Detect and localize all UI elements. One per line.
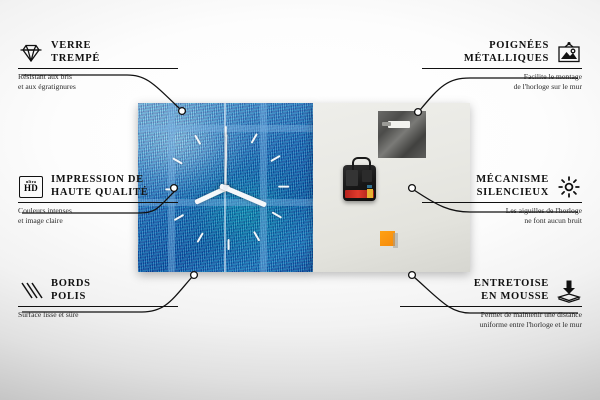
infographic-canvas: VERRE TREMPÉ Résistant aux bris et aux é…	[0, 0, 600, 400]
diamond-icon	[18, 42, 44, 64]
hour-marker	[227, 239, 229, 250]
callout-bords-polis: BORDS POLIS Surface lisse et sûre	[18, 278, 178, 320]
callout-divider	[422, 202, 582, 203]
callout-divider	[18, 306, 178, 307]
callout-title-line1: MÉCANISME	[476, 174, 549, 187]
callout-mecanisme-silencieux: MÉCANISME SILENCIEUX Les aiguilles de l'…	[422, 174, 582, 225]
callout-sub-line2: et image claire	[18, 216, 178, 225]
callout-title-line2: POLIS	[51, 291, 91, 304]
callout-sub-line1: Permet de maintenir une distance	[400, 310, 582, 319]
aa-battery	[345, 190, 374, 198]
callout-sub-line1: Résistant aux bris	[18, 72, 178, 81]
hour-marker	[196, 232, 204, 243]
clock-center-pin	[223, 185, 228, 190]
callout-title-line2: EN MOUSSE	[474, 291, 549, 304]
callout-title-line2: HAUTE QUALITÉ	[51, 187, 149, 200]
callout-sub-line1: Les aiguilles de l'horloge	[422, 206, 582, 215]
ultra-hd-icon: ultra HD	[18, 176, 44, 198]
hanger-slot	[388, 121, 410, 128]
callout-poignees-metalliques: POIGNÉES MÉTALLIQUES Facilite le montage…	[422, 40, 582, 91]
hour-marker	[252, 230, 260, 241]
face-grid-line	[260, 103, 267, 272]
callout-divider	[400, 306, 582, 307]
mechanism-body-detail	[362, 170, 372, 182]
callout-dot	[191, 272, 198, 279]
foam-spacer	[380, 231, 395, 246]
mechanism-label	[367, 185, 372, 188]
hour-marker	[271, 211, 282, 219]
callout-title-line1: ENTRETOISE	[474, 278, 549, 291]
ultra-hd-icon-large-text: HD	[24, 184, 38, 193]
hour-marker	[194, 134, 202, 145]
callout-sub-line1: Facilite le montage	[422, 72, 582, 81]
hour-marker	[278, 185, 289, 187]
callout-title-line2: SILENCIEUX	[476, 187, 549, 200]
metal-hanger-plate	[378, 111, 426, 158]
gear-icon	[556, 176, 582, 198]
callout-entretoise-en-mousse: ENTRETOISE EN MOUSSE Permet de maintenir…	[400, 278, 582, 329]
callout-divider	[18, 202, 178, 203]
mechanism-wire-loop	[352, 157, 371, 170]
mechanism-body-detail	[346, 170, 358, 186]
callout-divider	[18, 68, 178, 69]
callout-title-line2: MÉTALLIQUES	[464, 53, 549, 66]
hour-marker	[270, 154, 281, 162]
callout-sub-line2: ne font aucun bruit	[422, 216, 582, 225]
callout-sub-line2: uniforme entre l'horloge et le mur	[400, 320, 582, 329]
foam-spacer-shadow	[393, 233, 398, 248]
callout-title-line1: VERRE	[51, 40, 100, 53]
foam-spacer-arrow-icon	[556, 280, 582, 302]
callout-title-line1: POIGNÉES	[464, 40, 549, 53]
callout-verre-trempe: VERRE TREMPÉ Résistant aux bris et aux é…	[18, 40, 178, 91]
battery-positive-terminal	[367, 189, 373, 198]
callout-sub-line2: et aux égratignures	[18, 82, 178, 91]
callout-divider	[422, 68, 582, 69]
callout-title-line2: TREMPÉ	[51, 53, 100, 66]
polished-edges-icon	[18, 280, 44, 302]
callout-impression-haute-qualite: ultra HD IMPRESSION DE HAUTE QUALITÉ Cou…	[18, 174, 178, 225]
callout-sub-line2: de l'horloge sur le mur	[422, 82, 582, 91]
callout-title-line1: IMPRESSION DE	[51, 174, 149, 187]
product-image	[138, 103, 470, 272]
hour-marker	[250, 133, 258, 144]
clock-second-hand	[225, 134, 228, 192]
picture-frame-hanger-icon	[556, 42, 582, 64]
hanger-slot-secondary	[382, 122, 391, 126]
callout-title-line1: BORDS	[51, 278, 91, 291]
callout-sub-line1: Couleurs intenses	[18, 206, 178, 215]
callout-sub-line1: Surface lisse et sûre	[18, 310, 178, 319]
clock-mechanism	[343, 165, 376, 201]
